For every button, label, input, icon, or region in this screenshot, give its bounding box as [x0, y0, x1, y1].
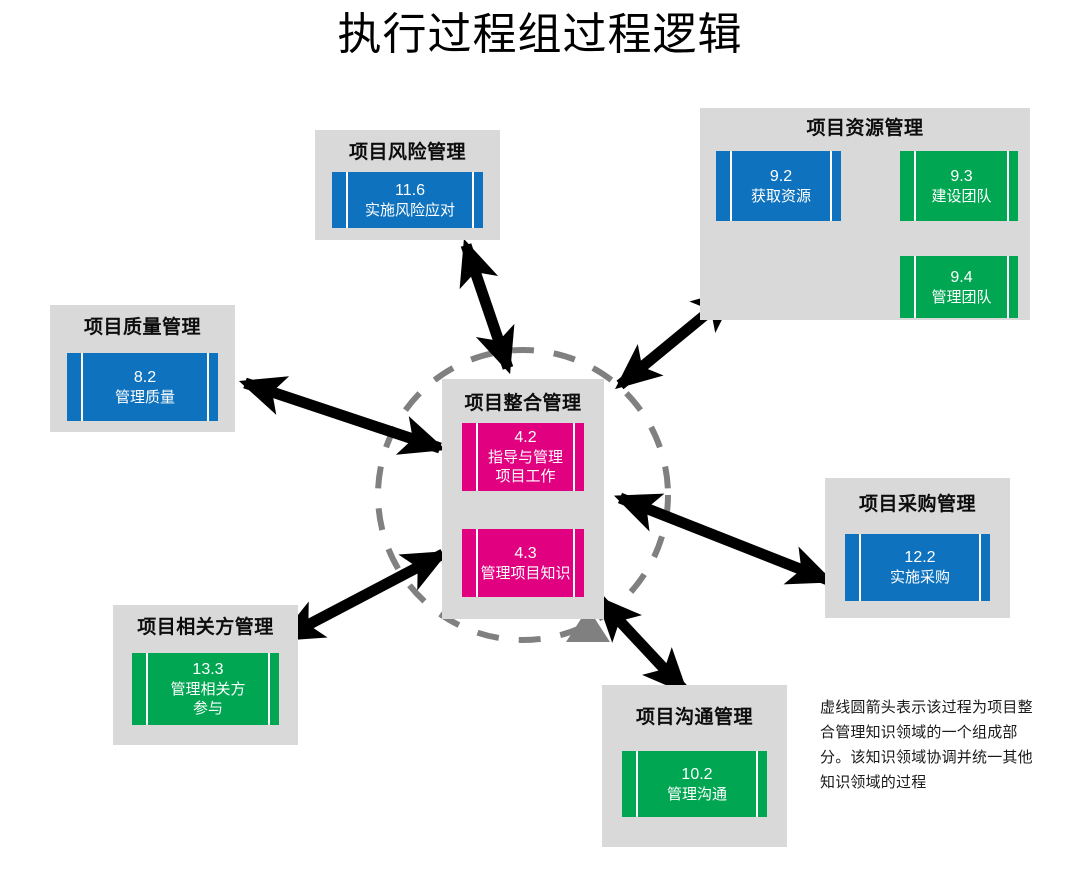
legend-note: 虚线圆箭头表示该过程为项目整 合管理知识领域的一个组成部 分。该知识领域协调并统… [820, 695, 1070, 795]
process-name: 实施风险应对 [365, 201, 455, 220]
legend-note-line-2: 合管理知识领域的一个组成部 [820, 720, 1070, 745]
legend-note-line-4: 知识领域的过程 [820, 770, 1070, 795]
process-9-4[interactable]: 9.4 管理团队 [900, 256, 1018, 318]
process-name: 建设团队 [931, 187, 991, 206]
process-id: 4.3 [514, 544, 536, 564]
process-id: 9.4 [950, 268, 972, 288]
diagram-canvas: 执行过程组过程逻辑 项目风险管理 11 [0, 0, 1080, 870]
process-13-3[interactable]: 13.3 管理相关方 参与 [132, 653, 279, 725]
area-title-resource: 项目资源管理 [700, 108, 1030, 140]
process-id: 13.3 [192, 660, 223, 680]
area-stakeholder[interactable]: 项目相关方管理 13.3 管理相关方 参与 [113, 605, 298, 745]
process-id: 9.2 [770, 167, 792, 187]
process-id: 8.2 [134, 368, 156, 388]
process-name: 管理沟通 [667, 785, 727, 804]
process-11-6[interactable]: 11.6 实施风险应对 [332, 172, 483, 228]
process-name-line-1: 管理相关方 [170, 680, 245, 699]
arrow-risk-center [466, 245, 508, 368]
area-title-quality: 项目质量管理 [50, 305, 235, 339]
process-10-2[interactable]: 10.2 管理沟通 [622, 751, 767, 817]
process-id: 10.2 [681, 765, 712, 785]
arrow-communication-center [600, 600, 684, 690]
area-title-risk: 项目风险管理 [315, 130, 500, 164]
process-8-2[interactable]: 8.2 管理质量 [67, 353, 218, 421]
process-name: 获取资源 [751, 187, 811, 206]
area-title-procurement: 项目采购管理 [825, 478, 1010, 516]
arrow-quality-center [245, 383, 440, 448]
process-4-2[interactable]: 4.2 指导与管理 项目工作 [462, 423, 584, 491]
process-name-line-2: 参与 [193, 699, 223, 718]
process-id: 4.2 [514, 428, 536, 448]
area-quality[interactable]: 项目质量管理 8.2 管理质量 [50, 305, 235, 432]
process-9-3[interactable]: 9.3 建设团队 [900, 151, 1018, 221]
process-name-line-1: 指导与管理 [488, 448, 563, 467]
area-title-stakeholder: 项目相关方管理 [113, 605, 298, 639]
area-title-communication: 项目沟通管理 [602, 685, 787, 729]
process-name-line-2: 项目工作 [495, 467, 555, 486]
process-name: 管理质量 [115, 388, 175, 407]
process-name: 管理项目知识 [480, 564, 570, 583]
area-procurement[interactable]: 项目采购管理 12.2 实施采购 [825, 478, 1010, 618]
area-risk[interactable]: 项目风险管理 11.6 实施风险应对 [315, 130, 500, 240]
legend-note-line-1: 虚线圆箭头表示该过程为项目整 [820, 695, 1070, 720]
arrow-procurement-center [620, 498, 828, 580]
area-integration[interactable]: 项目整合管理 4.2 指导与管理 项目工作 4.3 管理项目知识 [442, 379, 604, 619]
process-id: 9.3 [950, 167, 972, 187]
area-communication[interactable]: 项目沟通管理 10.2 管理沟通 [602, 685, 787, 847]
process-id: 12.2 [904, 548, 935, 568]
area-title-integration: 项目整合管理 [442, 379, 604, 415]
legend-note-line-3: 分。该知识领域协调并统一其他 [820, 745, 1070, 770]
process-id: 11.6 [395, 181, 425, 201]
process-4-3[interactable]: 4.3 管理项目知识 [462, 529, 584, 597]
area-resource[interactable]: 项目资源管理 9.2 获取资源 9.3 建设团队 9.4 管理团队 [700, 108, 1030, 320]
process-9-2[interactable]: 9.2 获取资源 [716, 151, 841, 221]
process-12-2[interactable]: 12.2 实施采购 [845, 534, 990, 601]
process-name: 实施采购 [890, 568, 950, 587]
process-name: 管理团队 [931, 288, 991, 307]
